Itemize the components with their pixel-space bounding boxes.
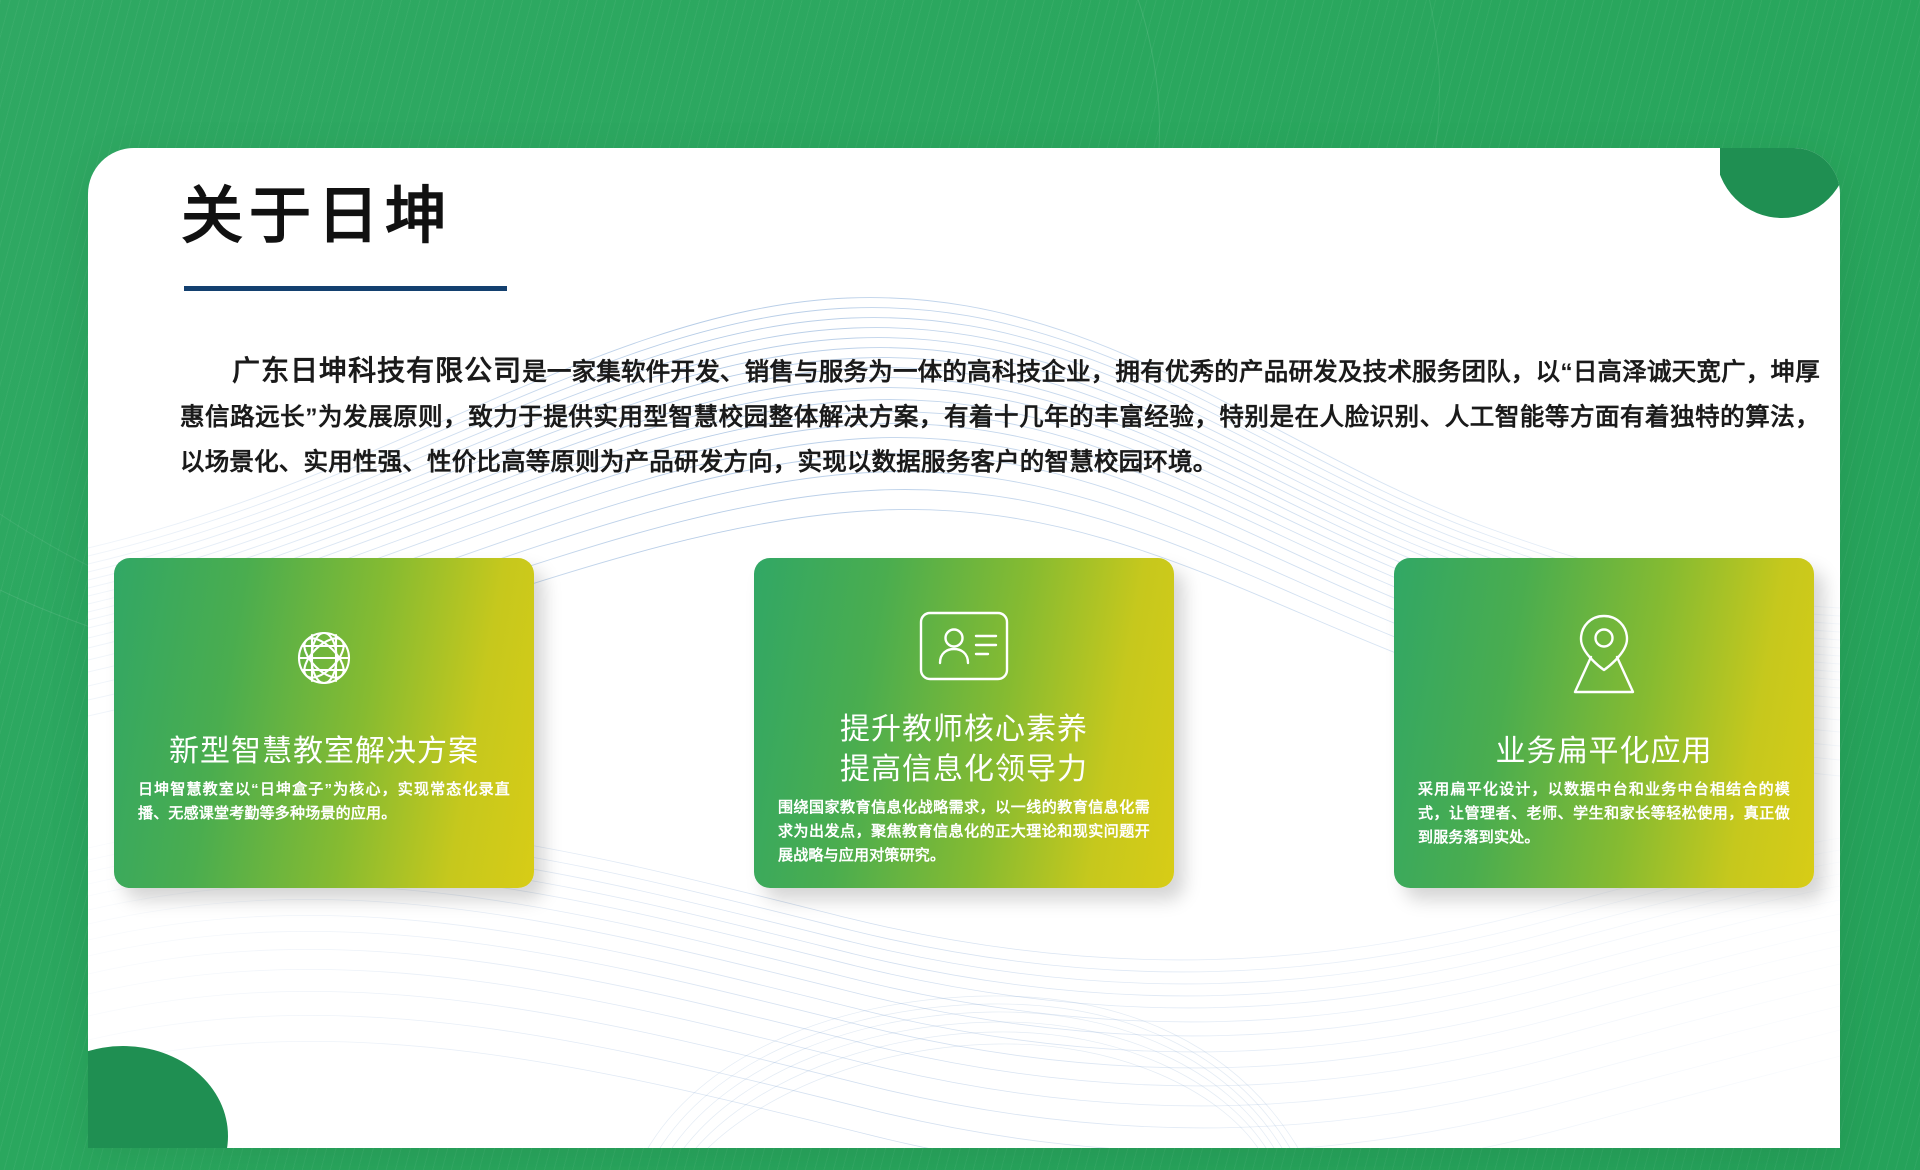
globe-network-icon xyxy=(278,610,370,706)
id-card-person-icon xyxy=(916,598,1012,694)
page-title: 关于日坤 xyxy=(181,184,453,249)
title-underline xyxy=(184,286,507,291)
corner-circle-decoration xyxy=(1720,148,1840,268)
feature-cards-row: 新型智慧教室解决方案 日坤智慧教室以“日坤盒子”为核心，实现常态化录直播、无感课… xyxy=(114,558,1814,898)
company-name: 广东日坤科技有限公司 xyxy=(232,355,522,386)
feature-card-teacher-literacy[interactable]: 提升教师核心素养 提高信息化领导力 围绕国家教育信息化战略需求，以一线的教育信息… xyxy=(754,558,1174,888)
about-paragraph: 广东日坤科技有限公司是一家集软件开发、销售与服务为一体的高科技企业，拥有优秀的产… xyxy=(180,348,1820,485)
content-panel: 关于日坤 广东日坤科技有限公司是一家集软件开发、销售与服务为一体的高科技企业，拥… xyxy=(88,148,1840,1148)
card-description: 采用扁平化设计，以数据中台和业务中台相结合的模式，让管理者、老师、学生和家长等轻… xyxy=(1418,778,1790,850)
corner-circle-decoration-bottom-left xyxy=(88,1038,238,1148)
card-title-line-2: 提高信息化领导力 xyxy=(840,750,1088,790)
feature-card-flat-business[interactable]: 业务扁平化应用 采用扁平化设计，以数据中台和业务中台相结合的模式，让管理者、老师… xyxy=(1394,558,1814,888)
card-title-line-1: 提升教师核心素养 xyxy=(840,710,1088,750)
card-description: 围绕国家教育信息化战略需求，以一线的教育信息化需求为出发点，聚焦教育信息化的正大… xyxy=(778,796,1150,868)
location-pin-icon xyxy=(1561,606,1647,702)
card-title: 提升教师核心素养 提高信息化领导力 xyxy=(840,710,1088,790)
feature-card-smart-classroom[interactable]: 新型智慧教室解决方案 日坤智慧教室以“日坤盒子”为核心，实现常态化录直播、无感课… xyxy=(114,558,534,888)
card-description: 日坤智慧教室以“日坤盒子”为核心，实现常态化录直播、无感课堂考勤等多种场景的应用… xyxy=(138,778,510,826)
card-title: 新型智慧教室解决方案 xyxy=(169,732,479,772)
card-title: 业务扁平化应用 xyxy=(1496,732,1713,772)
